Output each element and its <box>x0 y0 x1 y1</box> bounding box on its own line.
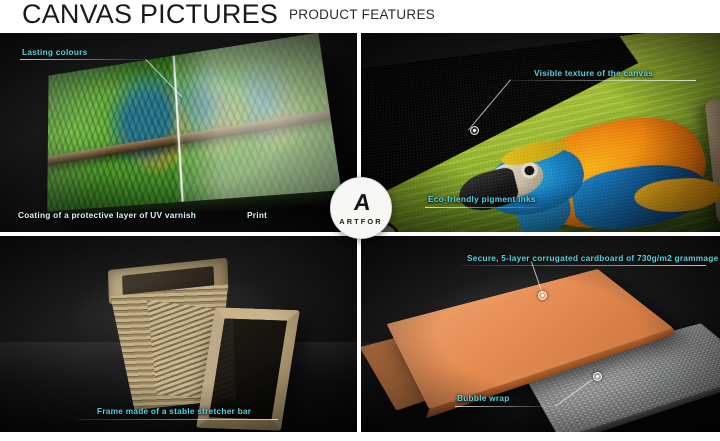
panel-vignette <box>0 33 357 232</box>
bottom-white-strip <box>0 432 720 441</box>
label-rule-stretcher-bar <box>78 419 278 420</box>
label-rule-visible-texture <box>511 80 696 81</box>
label-stretcher-bar: Frame made of a stable stretcher bar <box>97 406 251 416</box>
page-header: CANVAS PICTURES PRODUCT FEATURES <box>0 0 720 33</box>
product-features-infographic: CANVAS PICTURES PRODUCT FEATURES Lasting… <box>0 0 720 441</box>
logo-monogram-icon: A <box>353 191 369 214</box>
panel-uv-varnish: Lasting colours Coating of a protective … <box>0 33 357 232</box>
panel-vignette <box>361 33 720 232</box>
label-rule-eco-friendly-inks <box>425 207 540 208</box>
label-bubble-wrap: Bubble wrap <box>457 393 510 403</box>
panel-stretcher-frame: Frame made of a stable stretcher bar <box>0 236 357 432</box>
page-subtitle: PRODUCT FEATURES <box>289 7 435 22</box>
page-title: CANVAS PICTURES <box>22 0 278 30</box>
label-rule-bubble-wrap <box>455 406 555 407</box>
label-corrugated-cardboard: Secure, 5-layer corrugated cardboard of … <box>467 253 718 263</box>
logo-wordmark: ARTFOR <box>339 217 382 226</box>
callout-dot-visible-texture <box>470 126 479 135</box>
brand-logo: A ARTFOR <box>330 177 392 239</box>
callout-dot-corrugated-cardboard <box>538 291 547 300</box>
label-rule-corrugated-cardboard <box>461 265 706 266</box>
callout-dot-bubble-wrap <box>593 372 602 381</box>
panel-vignette <box>0 236 357 432</box>
label-eco-friendly-inks: Eco-friendly pigment inks <box>428 194 536 204</box>
label-uv-varnish-coating: Coating of a protective layer of UV varn… <box>18 210 196 220</box>
label-visible-texture: Visible texture of the canvas <box>534 68 653 78</box>
panel-packaging: Secure, 5-layer corrugated cardboard of … <box>361 236 720 432</box>
label-print: Print <box>247 210 267 220</box>
panel-canvas-texture: Visible texture of the canvas Eco-friend… <box>361 33 720 232</box>
label-rule-lasting-colours <box>20 59 146 60</box>
label-lasting-colours: Lasting colours <box>22 47 88 57</box>
